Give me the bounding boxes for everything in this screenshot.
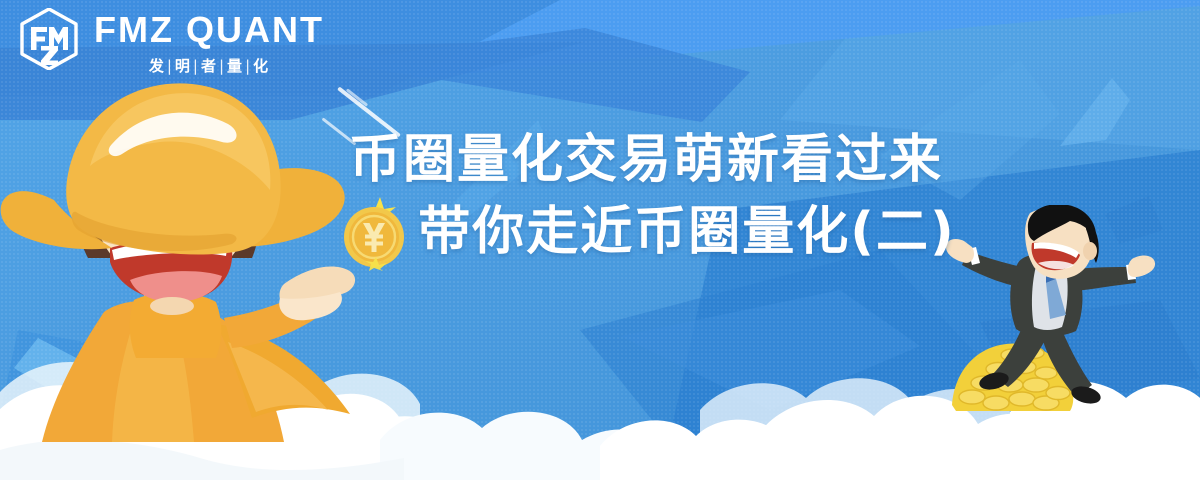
brand-subtitle-char-2: 者 [201,57,217,75]
headline-line-1: 币圈量化交易萌新看过来 [296,126,996,195]
brand-subtitle-sep-1: | [191,57,201,75]
yen-coin-icon [336,195,412,271]
brand-subtitle-char-0: 发 [149,57,165,75]
brand-subtitle-sep-2: | [217,57,227,75]
brand-subtitle-char-3: 量 [227,57,243,75]
brand-subtitle-char-1: 明 [175,57,191,75]
brand-logo[interactable]: FMZ QUANT 发|明|者|量|化 [18,8,324,76]
headline-line-2-row: 带你走近币圈量化(二) [296,195,996,271]
headline-line-2: 带你走近币圈量化(二) [418,198,956,267]
brand-subtitle-sep-3: | [243,57,253,75]
fmz-hexagon-logo-icon [18,8,80,70]
fmz-quant-promo-banner: FMZ QUANT 发|明|者|量|化 币圈量化交易萌新看过来 带你走近币圈量化… [0,0,1200,480]
brand-subtitle-char-4: 化 [253,57,269,75]
headline-block: 币圈量化交易萌新看过来 带你走近币圈量化(二) [296,126,996,271]
brand-wordmark: FMZ QUANT [94,12,324,48]
brand-subtitle: 发|明|者|量|化 [94,55,324,76]
brand-subtitle-sep-0: | [165,57,175,75]
